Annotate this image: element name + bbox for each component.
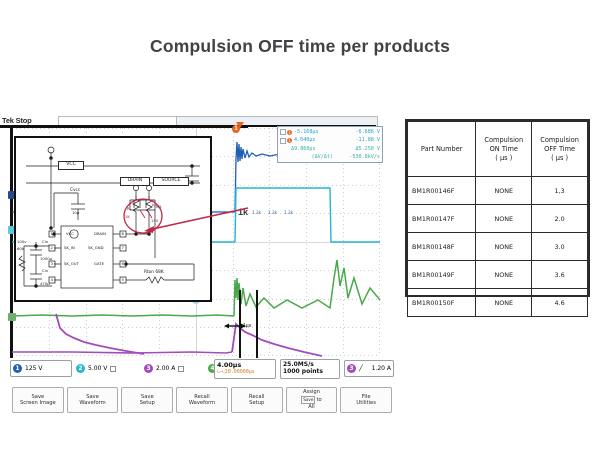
table-header-part-number: Part Number [408,122,476,177]
softkey-save-screen-image[interactable]: Save Screen Image [12,387,64,413]
table-row: BM1R00150F NONE 4.6 [408,289,588,317]
trigger-slope-icon: ╱ [359,365,363,372]
timebase-value: 4.00µs [217,361,273,369]
pulse-label-3: 1.3k [284,210,293,215]
cell-part-number: BM1R00148F [408,233,476,261]
schematic-vcc-box: VCC [58,161,84,170]
channel-3-badge: 3 [144,364,153,373]
cell-off-time: 3.6 [532,261,588,289]
compulsion-time-table: Part Number Compulsion ON Time ( µs ) Co… [405,119,590,297]
cell-part-number: BM1R00146F [408,177,476,205]
schematic-vin-label: 100v [17,239,27,244]
cursor-row1-time: -5.168µs [294,128,335,136]
channel-1-scale: 125 V [25,365,42,372]
cell-part-number: BM1R00149F [408,261,476,289]
channel-3-scale: 2.00 A [156,365,175,372]
cursor-delta-value: Δ5.250 V [333,145,380,153]
schematic-source-box: SOURCE [153,177,189,186]
channel-3-trace [12,324,322,356]
header-1-line1: Compulsion [477,136,530,145]
channel-1-badge: 1 [13,364,22,373]
timebase-settings[interactable]: 4.00µs ↳→⁏20.00000µs [214,359,276,379]
table-header-compulsion-off-time: Compulsion OFF Time ( µs ) [532,122,588,177]
softkey-save-waveform[interactable]: Save Waveform [67,387,119,413]
softkey-5-mini-suffix: to [316,397,321,403]
header-2-line1: Compulsion [533,136,586,145]
softkey-5-line2: All [308,404,314,410]
cell-off-time: 3.0 [532,233,588,261]
cursor-row1-badge: 1 [287,130,292,135]
softkey-assign-save-to-all[interactable]: Assign Save to All [286,387,338,413]
channel-2-badge: 2 [76,364,85,373]
channel-3-coupling-icon [178,366,184,372]
cell-off-time: 2.0 [532,205,588,233]
header-2-line2: OFF Time [533,145,586,154]
table-row: BM1R00148F NONE 3.0 [408,233,588,261]
table-header-row: Part Number Compulsion ON Time ( µs ) Co… [408,122,588,177]
table-row: BM1R00147F NONE 2.0 [408,205,588,233]
pulse-label-1: 1.3k [252,210,261,215]
cell-part-number: BM1R00150F [408,289,476,317]
softkey-save-setup[interactable]: Save Setup [121,387,173,413]
cursor-row2-checkbox[interactable] [280,138,286,144]
schematic-pin1: 1 [51,231,53,236]
header-1-line3: ( µs ) [477,154,530,163]
table-row: BM1R00146F NONE 1,3 [408,177,588,205]
cursor-slope-label: (ΔV/Δt) [291,153,333,161]
schematic-pin2: 2 [51,245,53,250]
cell-off-time: 1,3 [532,177,588,205]
scope-status-label: Tek Stop [2,116,32,125]
table-row: BM1R00149F NONE 3.6 [408,261,588,289]
channel-2-settings[interactable]: 2 5.00 V [74,360,140,377]
schematic-ic-drain-pin: DRAIN [94,231,106,236]
softkey-file-utilities[interactable]: File Utilities [340,387,392,413]
header-0-line1: Part Number [409,145,474,154]
cursor-row2-value: -11.88 V [335,136,380,144]
schematic-cin1-label: Cin [42,239,48,244]
softkey-4-line2: Setup [249,400,264,406]
schematic-cvcc-value: 10µ [72,210,79,215]
trigger-level-value: 1.20 A [372,365,391,372]
softkey-recall-setup[interactable]: Recall Setup [231,387,283,413]
schematic-ic-vcc-pin: VCC [66,231,74,236]
schematic-ic-skin-pin: SK_IN [64,245,75,250]
schematic-pin6: 6 [122,261,124,266]
schematic-cin2-label: Cin [42,268,48,273]
schematic-ic-skgnd-pin: SK_GND [88,245,104,250]
cursor-row1-checkbox[interactable] [280,129,286,135]
cell-on-time: NONE [476,261,532,289]
record-length-value: 1000 points [283,368,337,375]
softkey-5-mini: Save [301,396,315,404]
channel-2-scale: 5.00 V [88,365,107,372]
schematic-ic-gate-pin: GATE [94,261,104,266]
schematic-cvcc-label: Cvcc [70,188,80,193]
cursor-row2-badge: 1 [287,138,292,143]
cursor-readout-panel: 1 -5.168µs -6.686 V 1 4.040µs -11.88 V Δ… [277,126,383,163]
cursor-row1-value: -6.686 V [335,128,380,136]
softkey-2-line2: Setup [140,400,155,406]
sample-rate-settings[interactable]: 25.0MS/s 1000 points [280,359,340,379]
schematic-pin5: 5 [122,277,124,282]
schematic-vin2-label: 60k [17,246,24,251]
table-header-compulsion-on-time: Compulsion ON Time ( µs ) [476,122,532,177]
cell-on-time: NONE [476,205,532,233]
cursor-row2-time: 4.040µs [294,136,335,144]
pulse-width-arrow [224,321,258,331]
channel-1-settings[interactable]: 1 125 V [10,360,72,377]
softkey-recall-waveform[interactable]: Recall Waveform [176,387,228,413]
cell-on-time: NONE [476,289,532,317]
schematic-drain-box: DRAIN [120,177,150,186]
softkey-6-line2: Utilities [356,400,376,406]
channel-3-trace-left [56,314,144,354]
channel-3-settings[interactable]: 3 2.00 A [142,360,204,377]
cell-off-time: 4.6 [532,289,588,317]
channel-2-coupling-icon [110,366,116,372]
timebase-offset: ↳→⁏20.00000µs [217,369,273,375]
screenshot-root: Compulsion OFF time per products Tek Sto… [0,0,600,450]
cell-part-number: BM1R00147F [408,205,476,233]
trigger-source-badge: 3 [347,364,356,373]
schematic-pin8: 8 [122,231,124,236]
softkey-0-line2: Screen Image [20,400,56,406]
cursor-slope-value: -530.8kV/s [333,153,380,161]
schematic-ic-skout-pin: SK_OUT [64,261,79,266]
header-2-line3: ( µs ) [533,154,586,163]
channel-4-position-marker[interactable] [8,313,16,321]
schematic-pin4: 4 [51,277,53,282]
softkey-1-line2: Waveform [79,400,105,406]
schematic-cin2-value: 470µ [40,281,50,286]
cursor-delta-time: Δ9.860µs [291,145,333,153]
sample-rate-value: 25.0MS/s [283,361,337,368]
cell-on-time: NONE [476,233,532,261]
softkey-3-line2: Waveform [189,400,215,406]
header-1-line2: ON Time [477,145,530,154]
schematic-ron-label: Rton 68K [144,270,164,275]
schematic-pin3: 3 [51,261,53,266]
schematic-pin7: 7 [122,245,124,250]
trigger-level-badge[interactable]: 1 [232,125,240,133]
trigger-settings[interactable]: 3 ╱ 1.20 A [344,360,394,377]
cell-on-time: NONE [476,177,532,205]
pulse-label-2: 1.3k [268,210,277,215]
scope-softkey-bar: Save Screen Image Save Waveform Save Set… [12,387,392,413]
callout-arrow-icon [130,200,250,240]
page-title: Compulsion OFF time per products [0,36,600,57]
